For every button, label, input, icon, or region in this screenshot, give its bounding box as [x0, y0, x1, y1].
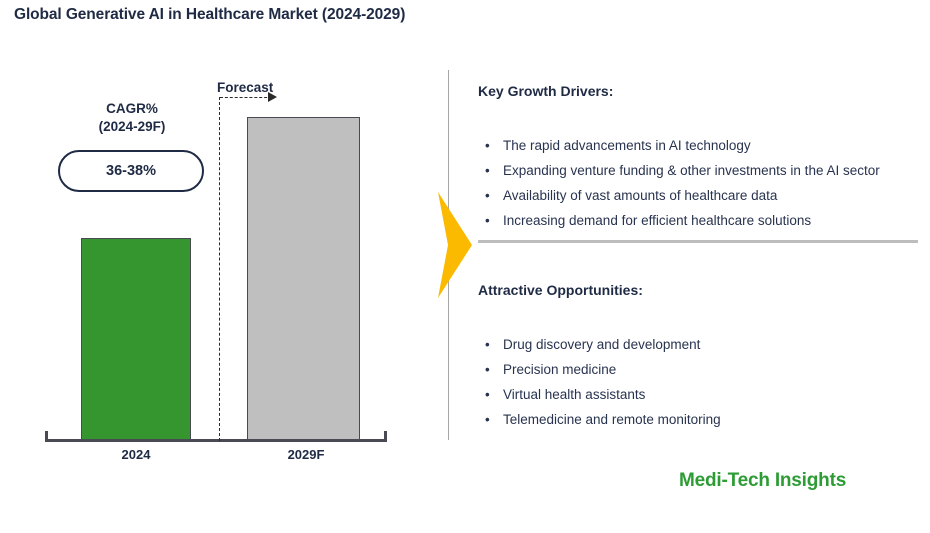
list-item: • Telemedicine and remote monitoring	[478, 407, 721, 432]
cagr-caption: CAGR% (2024-29F)	[58, 100, 206, 136]
x-axis-label-2029f: 2029F	[246, 447, 366, 462]
brand-logo: Medi-Tech Insights	[679, 470, 846, 492]
attractive-opportunities-heading: Attractive Opportunities:	[478, 282, 643, 298]
list-item-label: Telemedicine and remote monitoring	[503, 412, 721, 427]
bar-2029f	[247, 117, 360, 440]
bar-chart: 2024 2029F Forecast CAGR% (2024-29F) 36-…	[0, 0, 440, 533]
insights-panel: Key Growth Drivers: • The rapid advancem…	[478, 0, 920, 533]
list-item: • Expanding venture funding & other inve…	[478, 158, 880, 183]
x-axis-tick-right	[384, 431, 387, 442]
bullet-icon: •	[485, 332, 490, 357]
list-item-label: Precision medicine	[503, 362, 616, 377]
cagr-value: 36-38%	[106, 163, 156, 179]
list-item-label: Availability of vast amounts of healthca…	[503, 188, 777, 203]
x-axis-tick-left	[45, 431, 48, 442]
list-item: • Virtual health assistants	[478, 382, 721, 407]
bullet-icon: •	[485, 208, 490, 233]
cagr-caption-line2: (2024-29F)	[58, 118, 206, 136]
infographic-page: Global Generative AI in Healthcare Marke…	[0, 0, 930, 533]
bar-2024	[81, 238, 191, 440]
x-axis-label-2024: 2024	[76, 447, 196, 462]
forecast-divider-dashed-line	[219, 97, 220, 441]
list-item-label: Expanding venture funding & other invest…	[503, 163, 880, 178]
list-item-label: Increasing demand for efficient healthca…	[503, 213, 811, 228]
list-item-label: Virtual health assistants	[503, 387, 645, 402]
list-item: • Availability of vast amounts of health…	[478, 183, 880, 208]
forecast-label: Forecast	[217, 80, 273, 95]
bullet-icon: •	[485, 357, 490, 382]
list-item-label: The rapid advancements in AI technology	[503, 138, 751, 153]
bullet-icon: •	[485, 133, 490, 158]
key-growth-drivers-heading: Key Growth Drivers:	[478, 83, 613, 99]
list-item: • Precision medicine	[478, 357, 721, 382]
list-item: • The rapid advancements in AI technolog…	[478, 133, 880, 158]
bullet-icon: •	[485, 183, 490, 208]
right-arrow-icon	[438, 192, 472, 298]
cagr-value-pill: 36-38%	[58, 150, 204, 192]
bullet-icon: •	[485, 407, 490, 432]
list-item: • Drug discovery and development	[478, 332, 721, 357]
x-axis-line	[45, 439, 387, 442]
section-divider	[478, 240, 918, 243]
list-item-label: Drug discovery and development	[503, 337, 700, 352]
cagr-caption-line1: CAGR%	[58, 100, 206, 118]
bullet-icon: •	[485, 382, 490, 407]
key-growth-drivers-list: • The rapid advancements in AI technolog…	[478, 133, 880, 233]
forecast-arrow-dashed-line	[220, 97, 272, 98]
bullet-icon: •	[485, 158, 490, 183]
attractive-opportunities-list: • Drug discovery and development • Preci…	[478, 332, 721, 432]
list-item: • Increasing demand for efficient health…	[478, 208, 880, 233]
